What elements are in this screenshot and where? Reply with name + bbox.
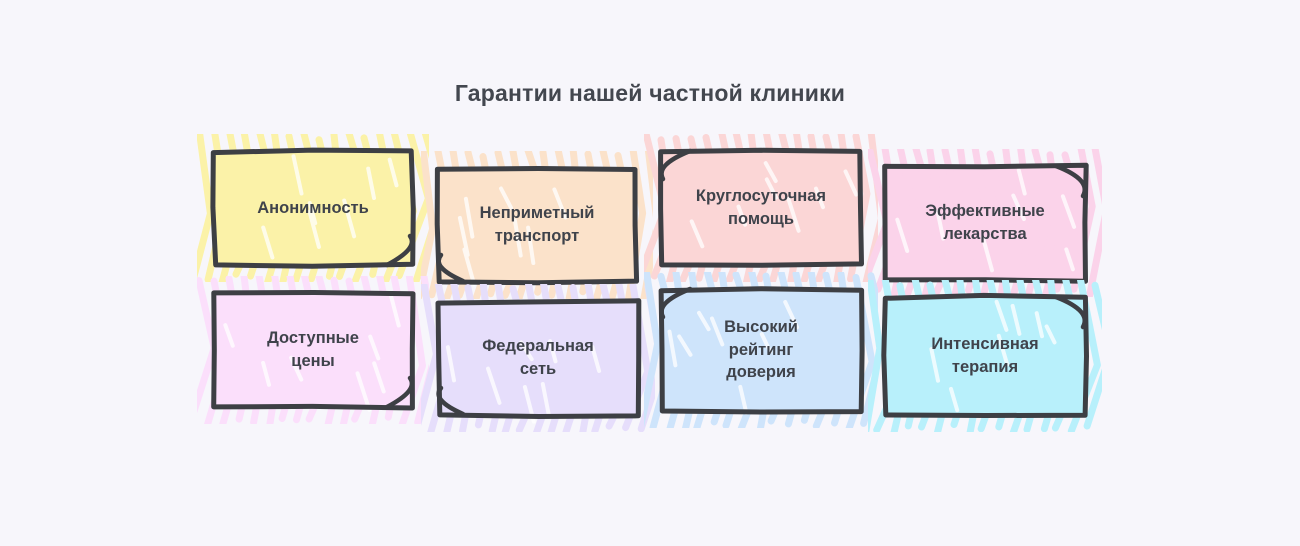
guarantee-card-round-the-clock-help: Круглосуточная помощь xyxy=(660,150,862,266)
guarantee-card-intensive-therapy: Интенсивная терапия xyxy=(884,296,1086,416)
card-label: Эффективные лекарства xyxy=(884,165,1086,281)
guarantee-card-affordable-prices: Доступные цены xyxy=(213,292,413,408)
guarantee-card-high-trust-rating: Высокий рейтинг доверия xyxy=(660,288,862,412)
guarantee-card-anonymity: Анонимность xyxy=(213,150,413,266)
card-label: Федеральная сеть xyxy=(437,300,639,416)
card-label: Высокий рейтинг доверия xyxy=(660,288,862,412)
guarantee-card-discreet-transport: Неприметный транспорт xyxy=(437,167,637,283)
card-label: Доступные цены xyxy=(213,292,413,408)
guarantee-card-effective-medicines: Эффективные лекарства xyxy=(884,165,1086,281)
card-label: Интенсивная терапия xyxy=(884,296,1086,416)
guarantee-card-federal-network: Федеральная сеть xyxy=(437,300,639,416)
page-title: Гарантии нашей частной клиники xyxy=(0,80,1300,107)
infographic-page: Гарантии нашей частной клиники Анонимнос… xyxy=(0,0,1300,546)
card-label: Неприметный транспорт xyxy=(437,167,637,283)
card-label: Анонимность xyxy=(213,150,413,266)
card-label: Круглосуточная помощь xyxy=(660,150,862,266)
